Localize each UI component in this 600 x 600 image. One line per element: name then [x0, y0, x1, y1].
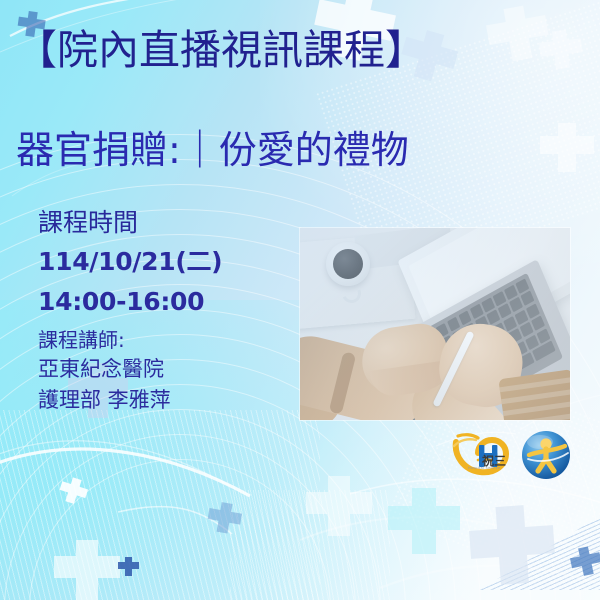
- hospital-logo-subcaption: Hospital Service: [468, 466, 500, 470]
- diagonal-hatch-bottom-right: [440, 470, 600, 590]
- course-subtitle: 器官捐贈:｜份愛的禮物: [16, 130, 409, 172]
- course-announcement-poster: 【院內直播視訊課程】 器官捐贈:｜份愛的禮物 課程時間 114/10/21(二)…: [0, 0, 600, 600]
- diagonal-hatch-bottom-center: [230, 490, 390, 600]
- course-info-block: 課程時間 114/10/21(二) 14:00-16:00 課程講師: 亞東紀念…: [38, 210, 222, 411]
- schedule-label: 課程時間: [38, 210, 222, 235]
- instructor-organization: 亞東紀念醫院: [38, 359, 222, 380]
- instructor-name: 護理部 李雅萍: [38, 390, 222, 411]
- health-promotion-logo: [520, 429, 572, 481]
- course-date: 114/10/21(二): [38, 249, 222, 274]
- page-title: 【院內直播視訊課程】: [16, 28, 426, 73]
- laptop-typing-photo: [300, 228, 570, 420]
- diagonal-hatch-bottom-left: [0, 410, 320, 600]
- instructor-label: 課程講師:: [38, 330, 222, 350]
- logo-group: 祝三 Hospital Service: [452, 432, 572, 484]
- course-time: 14:00-16:00: [38, 289, 222, 314]
- photo-blue-tint-overlay: [300, 228, 570, 420]
